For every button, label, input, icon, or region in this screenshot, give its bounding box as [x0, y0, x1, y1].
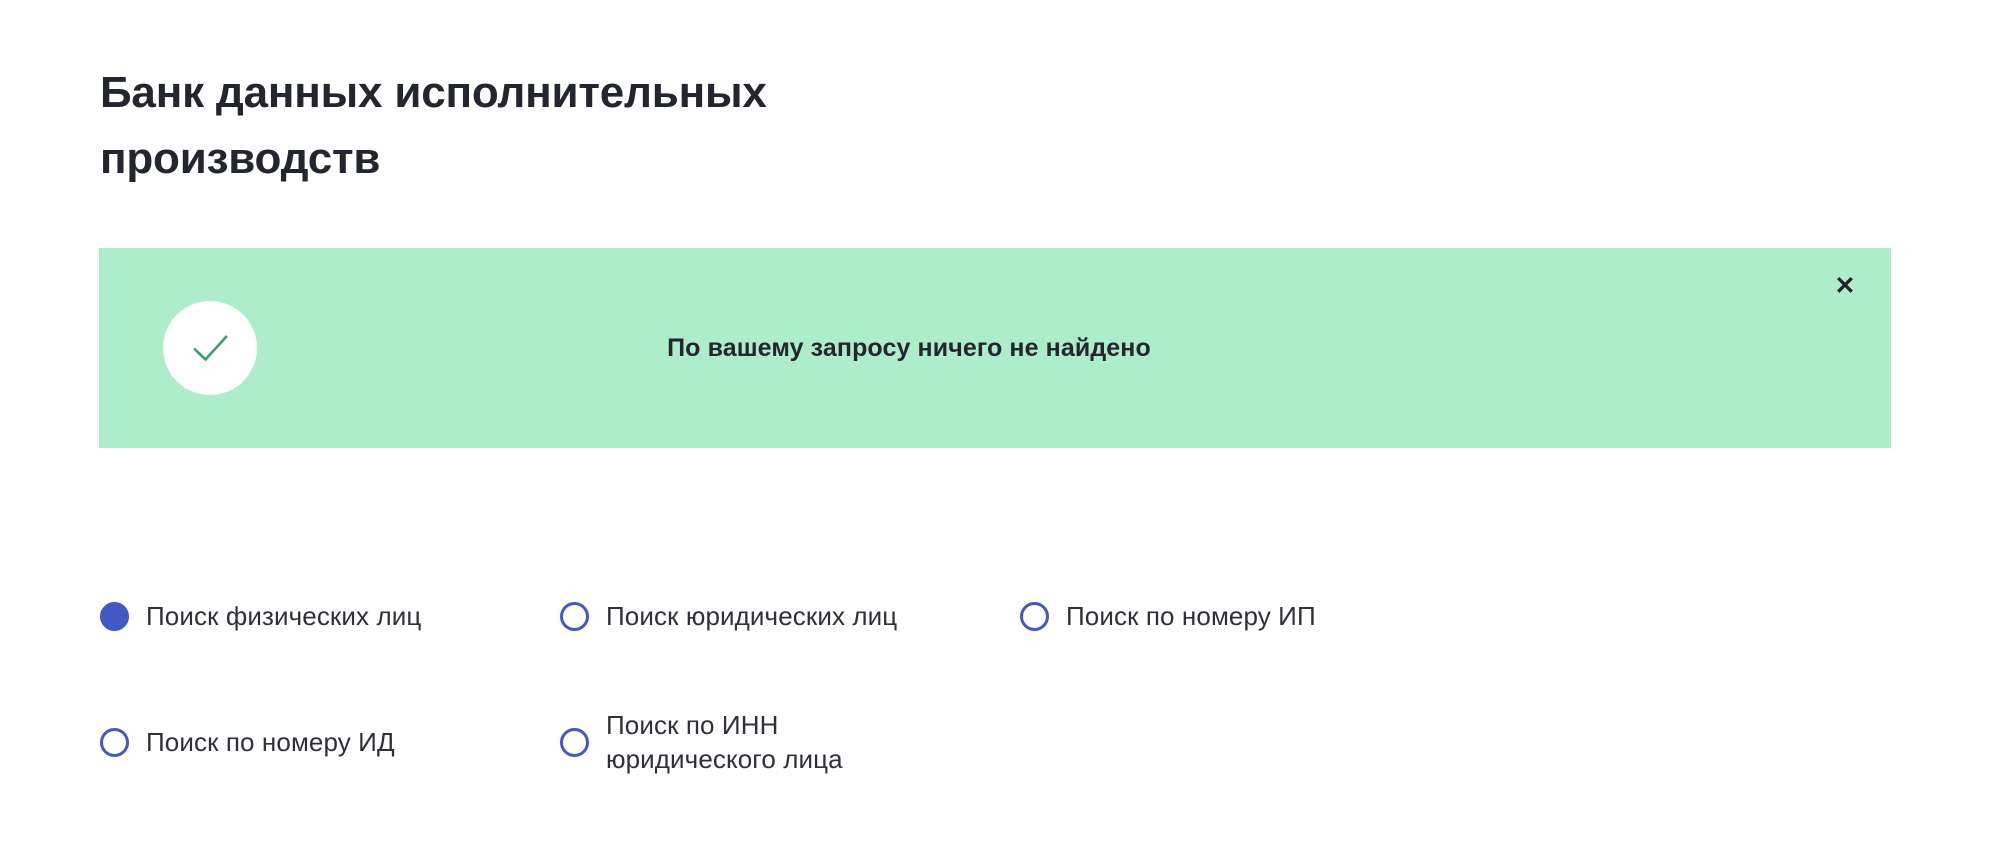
radio-indicator[interactable] — [1020, 602, 1049, 631]
radio-indicator[interactable] — [560, 728, 589, 757]
radio-indicator[interactable] — [560, 602, 589, 631]
radio-label: Поиск по ИНН юридического лица — [606, 708, 843, 776]
close-icon[interactable]: ✕ — [1825, 266, 1865, 306]
empty-result-alert: По вашему запросу ничего не найдено ✕ — [99, 248, 1891, 448]
radio-row-2: Поиск по номеру ИД Поиск по ИНН юридичес… — [100, 711, 1900, 837]
radio-option-search-by-ip-number[interactable]: Поиск по номеру ИП — [1020, 585, 1316, 647]
radio-option-search-legal-entities[interactable]: Поиск юридических лиц — [560, 585, 897, 647]
radio-label: Поиск по номеру ИП — [1066, 599, 1316, 633]
page-title: Банк данных исполнительных производств — [100, 60, 1020, 192]
radio-label: Поиск юридических лиц — [606, 599, 897, 633]
search-mode-radio-group: Поиск физических лиц Поиск юридических л… — [100, 585, 1900, 837]
radio-option-search-individuals[interactable]: Поиск физических лиц — [100, 585, 421, 647]
radio-label: Поиск физических лиц — [146, 599, 421, 633]
radio-row-1: Поиск физических лиц Поиск юридических л… — [100, 585, 1900, 711]
radio-option-search-by-inn[interactable]: Поиск по ИНН юридического лица — [560, 711, 843, 773]
alert-icon — [163, 301, 257, 395]
radio-label: Поиск по номеру ИД — [146, 725, 395, 759]
alert-message: По вашему запросу ничего не найдено — [319, 248, 1679, 448]
radio-option-search-by-id-number[interactable]: Поиск по номеру ИД — [100, 711, 395, 773]
radio-indicator-selected[interactable] — [100, 602, 129, 631]
check-circle-icon — [163, 301, 257, 395]
radio-indicator[interactable] — [100, 728, 129, 757]
